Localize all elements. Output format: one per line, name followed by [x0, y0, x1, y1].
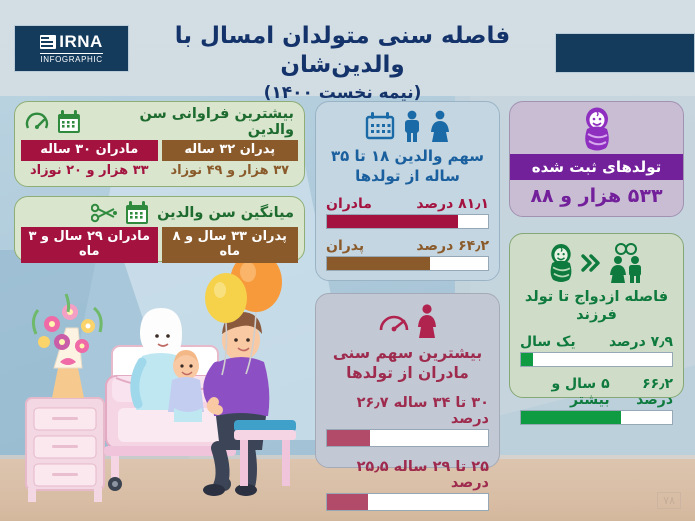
parents-18-35-fathers-row: ۶۴٫۲ درصد پدران	[316, 238, 499, 271]
father-label: پدران ۳۲ ساله	[162, 140, 299, 161]
couple-icon	[606, 243, 648, 283]
woman-icon	[429, 110, 451, 142]
card-parents-18-35-share: سهم والدین ۱۸ تا ۳۵ ساله از تولدها ۸۱٫۱ …	[315, 101, 500, 281]
parents-18-35-title: سهم والدین ۱۸ تا ۳۵ ساله از تولدها	[316, 143, 499, 186]
fathers-bar	[326, 256, 489, 271]
range-30-34-label: ۳۰ تا ۳۴ ساله ۲۶٫۷ درصد	[326, 395, 489, 427]
five-plus-percent: ۶۶٫۲ درصد	[610, 376, 673, 408]
logo-subtitle: INFOGRAPHIC	[40, 53, 102, 64]
registered-births-banner: تولدهای ثبت شده	[510, 154, 683, 180]
most-frequent-mother: مادران ۳۰ ساله ۳۳ هزار و ۲۰ نوزاد	[21, 140, 158, 181]
infographic-canvas: IRNA INFOGRAPHIC فاصله سنی متولدان امسال…	[0, 0, 695, 521]
average-mother: مادران ۲۹ سال و ۳ ماه	[21, 227, 158, 263]
marriage-to-birth-icons	[510, 241, 683, 285]
card-header-most-frequent: بیشترین فراوانی سن والدین	[15, 102, 304, 140]
father-value: ۳۷ هزار و ۴۹ نوزاد	[162, 161, 299, 181]
card-header-average: میانگین سن والدین	[15, 197, 304, 227]
marriage-gap-one-year-row: ۷٫۹ درصد یک سال	[510, 334, 683, 367]
card-most-frequent-parent-age: بیشترین فراوانی سن والدین پدران ۳۲ ساله …	[14, 101, 305, 187]
average-values: پدران ۳۳ سال و ۸ ماه مادران ۲۹ سال و ۳ م…	[15, 227, 304, 263]
woman-icon	[416, 304, 438, 338]
irna-lines-mark-icon	[40, 35, 56, 49]
swaddled-baby-icon	[580, 107, 614, 151]
mother-value: ۳۳ هزار و ۲۰ نوزاد	[21, 161, 158, 181]
family-illustration	[8, 250, 318, 513]
one-year-label: یک سال	[520, 334, 576, 350]
gauge-icon	[25, 110, 49, 134]
average-father: پدران ۳۳ سال و ۸ ماه	[162, 227, 299, 263]
header-accent-bar	[555, 33, 695, 73]
most-frequent-heading: بیشترین فراوانی سن والدین	[89, 106, 294, 138]
fathers-label: پدران	[326, 238, 364, 254]
gauge-icon	[378, 306, 410, 336]
man-icon	[401, 110, 423, 142]
marriage-gap-five-plus-row: ۶۶٫۲ درصد ۵ سال و بیشتر	[510, 376, 683, 425]
mothers-share-30-34-row: ۳۰ تا ۳۴ ساله ۲۶٫۷ درصد	[316, 395, 499, 447]
range-25-29-bar	[326, 493, 489, 511]
father-label: پدران ۳۳ سال و ۸ ماه	[162, 227, 299, 263]
range-30-34-bar	[326, 429, 489, 447]
parents-18-35-mothers-row: ۸۱٫۱ درصد مادران	[316, 196, 499, 229]
swaddled-baby-icon	[546, 243, 576, 283]
mothers-percent: ۸۱٫۱ درصد	[416, 196, 489, 212]
irna-logo: IRNA INFOGRAPHIC	[14, 25, 129, 72]
five-plus-bar	[520, 410, 673, 425]
mother-label: مادران ۲۹ سال و ۳ ماه	[21, 227, 158, 263]
mother-label: مادران ۳۰ ساله	[21, 140, 158, 161]
registered-births-icon-row	[510, 108, 683, 150]
page-subtitle: (نیمه نخست ۱۴۰۰)	[140, 83, 545, 103]
marriage-to-birth-title: فاصله ازدواج تا تولد فرزند	[510, 285, 683, 324]
calendar-icon	[56, 110, 82, 134]
parents-18-35-icons	[316, 109, 499, 143]
five-plus-label: ۵ سال و بیشتر	[520, 376, 610, 408]
rings-icon	[626, 244, 636, 254]
calendar-icon	[124, 201, 150, 225]
registered-births-value: ۵۳۳ هزار و ۸۸	[510, 185, 683, 207]
scissors-icon	[91, 203, 117, 223]
page-title: فاصله سنی متولدان امسال با والدین‌شان	[140, 22, 545, 80]
most-frequent-father: پدران ۳۲ ساله ۳۷ هزار و ۴۹ نوزاد	[162, 140, 299, 181]
card-registered-births: تولدهای ثبت شده ۵۳۳ هزار و ۸۸	[509, 101, 684, 217]
calendar-icon	[365, 112, 395, 140]
mothers-label: مادران	[326, 196, 372, 212]
one-year-bar	[520, 352, 673, 367]
fathers-percent: ۶۴٫۲ درصد	[416, 238, 489, 254]
card-marriage-to-birth-gap: فاصله ازدواج تا تولد فرزند ۷٫۹ درصد یک س…	[509, 233, 684, 398]
one-year-percent: ۷٫۹ درصد	[609, 334, 673, 350]
mothers-share-25-29-row: ۲۵ تا ۲۹ ساله ۲۵٫۵ درصد	[316, 459, 499, 511]
chevrons-icon	[580, 252, 602, 274]
average-heading: میانگین سن والدین	[157, 205, 294, 221]
mothers-age-share-icons	[316, 301, 499, 341]
logo-wordmark: IRNA	[59, 33, 103, 50]
card-mothers-age-share: بیشترین سهم سنی مادران از تولدها ۳۰ تا ۳…	[315, 293, 500, 468]
range-25-29-label: ۲۵ تا ۲۹ ساله ۲۵٫۵ درصد	[326, 459, 489, 491]
most-frequent-values: پدران ۳۲ ساله ۳۷ هزار و ۴۹ نوزاد مادران …	[15, 140, 304, 181]
mothers-bar	[326, 214, 489, 229]
page-watermark: ۷۸	[657, 492, 681, 509]
card-average-parent-age: میانگین سن والدین پدران ۳۳ سال و ۸ ماه	[14, 196, 305, 262]
mothers-age-share-title: بیشترین سهم سنی مادران از تولدها	[316, 341, 499, 383]
page-title-block: فاصله سنی متولدان امسال با والدین‌شان (ن…	[140, 22, 545, 103]
